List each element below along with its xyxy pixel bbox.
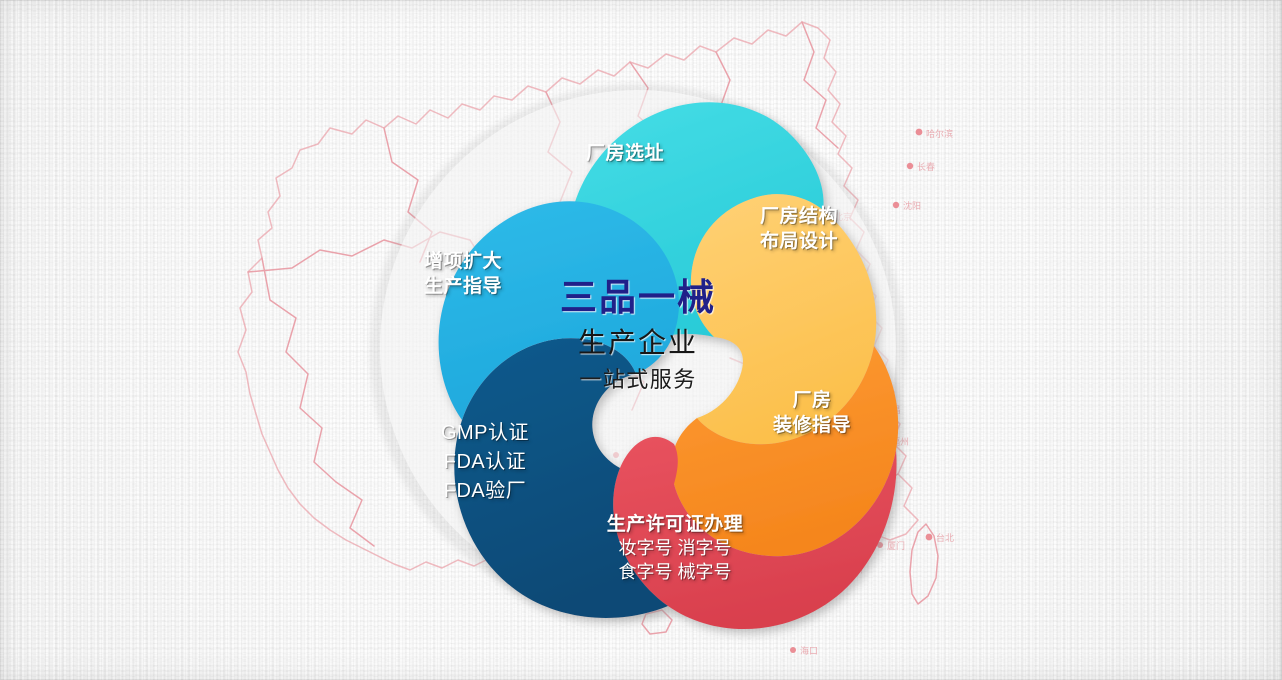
infographic-canvas: 哈尔滨 长春 沈阳 北京 成都 武汉 南昌 福州 广州 厦门 台北 海口 xyxy=(0,0,1282,680)
petal-pinwheel-diagram xyxy=(0,0,1282,680)
